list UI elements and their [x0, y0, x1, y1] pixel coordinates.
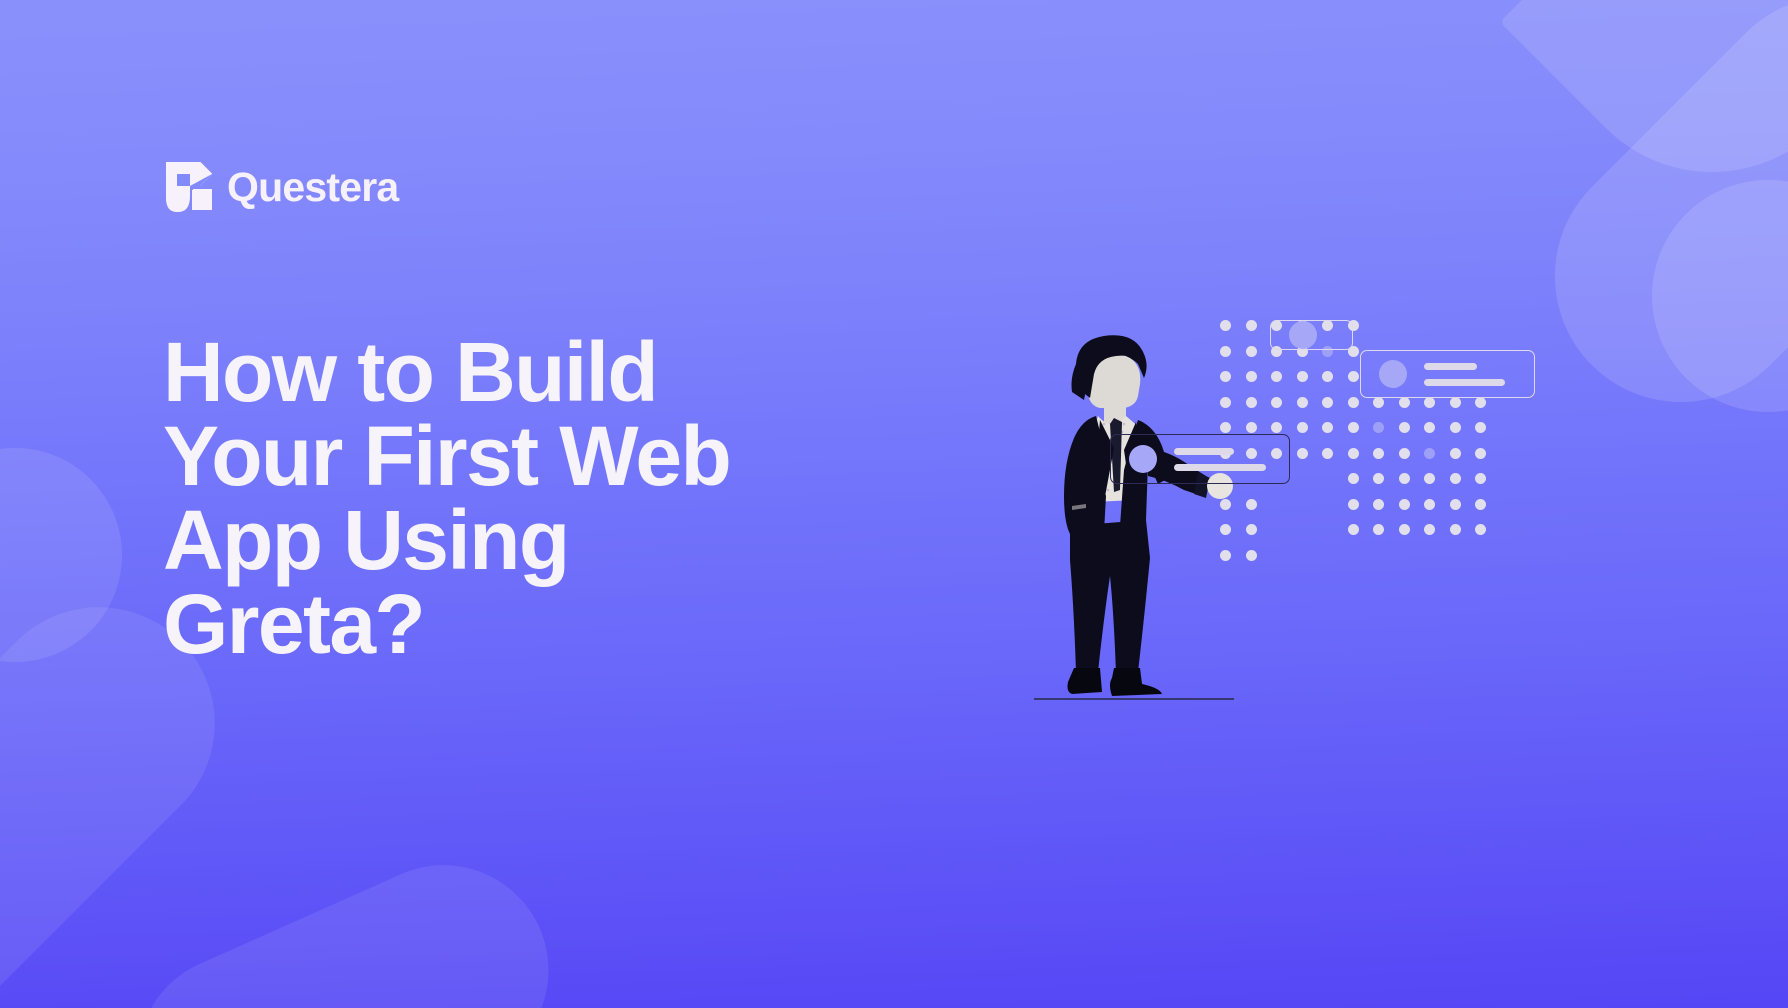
grid-dot — [1424, 422, 1435, 433]
grid-dot — [1424, 499, 1435, 510]
rounded-blob-shape-bottom-left-3 — [104, 832, 582, 1008]
grid-dot — [1399, 422, 1410, 433]
grid-dot — [1399, 473, 1410, 484]
grid-dot — [1475, 397, 1486, 408]
rounded-blob-shape-bottom-left-2 — [0, 448, 122, 662]
placeholder-line — [1174, 464, 1266, 471]
grid-dot — [1348, 448, 1359, 459]
avatar-circle-icon — [1289, 321, 1317, 349]
grid-dot — [1322, 371, 1333, 382]
grid-dot — [1373, 397, 1384, 408]
grid-dot — [1297, 448, 1308, 459]
floor-line — [1034, 698, 1234, 700]
page-title-line-4: Greta? — [163, 582, 863, 666]
placeholder-line — [1174, 448, 1234, 455]
person-in-suit-icon — [1020, 320, 1280, 720]
grid-dot — [1348, 422, 1359, 433]
page-title-line-2: Your First Web — [163, 414, 863, 498]
grid-dot — [1373, 499, 1384, 510]
page-title: How to Build Your First Web App Using Gr… — [163, 330, 863, 666]
grid-dot — [1450, 448, 1461, 459]
ui-card-top[interactable] — [1360, 350, 1535, 398]
ui-card-middle[interactable] — [1110, 434, 1290, 484]
grid-dot — [1373, 448, 1384, 459]
grid-dot — [1348, 371, 1359, 382]
grid-dot — [1399, 397, 1410, 408]
grid-dot — [1450, 473, 1461, 484]
grid-dot — [1297, 422, 1308, 433]
hero-illustration — [1020, 320, 1740, 720]
grid-dot — [1450, 422, 1461, 433]
questera-shield-mark-icon — [166, 162, 212, 212]
grid-dot — [1322, 448, 1333, 459]
ui-card-top-lines — [1424, 363, 1516, 386]
grid-dot — [1475, 448, 1486, 459]
rounded-blob-shape-top-right-1 — [1500, 0, 1788, 234]
grid-dot — [1450, 524, 1461, 535]
grid-dot — [1322, 422, 1333, 433]
ui-card-bottom[interactable] — [1270, 320, 1353, 350]
grid-dot — [1475, 473, 1486, 484]
grid-dot — [1373, 473, 1384, 484]
grid-dot — [1450, 397, 1461, 408]
grid-dot — [1348, 397, 1359, 408]
grid-dot — [1475, 422, 1486, 433]
ui-card-middle-lines — [1174, 448, 1271, 471]
grid-dot — [1399, 448, 1410, 459]
grid-dot — [1424, 448, 1435, 459]
cover-canvas: Questera How to Build Your First Web App… — [0, 0, 1788, 1008]
grid-dot — [1424, 397, 1435, 408]
grid-dot — [1373, 524, 1384, 535]
grid-dot — [1475, 499, 1486, 510]
avatar-circle-icon — [1129, 445, 1157, 473]
placeholder-line — [1424, 363, 1477, 370]
placeholder-line — [1424, 379, 1505, 386]
grid-dot — [1348, 473, 1359, 484]
grid-dot — [1348, 499, 1359, 510]
page-title-line-3: App Using — [163, 498, 863, 582]
grid-dot — [1424, 473, 1435, 484]
avatar-circle-icon — [1379, 360, 1407, 388]
grid-dot — [1399, 524, 1410, 535]
page-title-line-1: How to Build — [163, 330, 863, 414]
brand-logo[interactable]: Questera — [166, 162, 398, 212]
grid-dot — [1373, 422, 1384, 433]
grid-dot — [1297, 397, 1308, 408]
grid-dot — [1475, 524, 1486, 535]
grid-dot — [1399, 499, 1410, 510]
grid-dot — [1424, 524, 1435, 535]
brand-name: Questera — [227, 167, 398, 208]
grid-dot — [1322, 397, 1333, 408]
grid-dot — [1348, 524, 1359, 535]
grid-dot — [1297, 371, 1308, 382]
grid-dot — [1450, 499, 1461, 510]
